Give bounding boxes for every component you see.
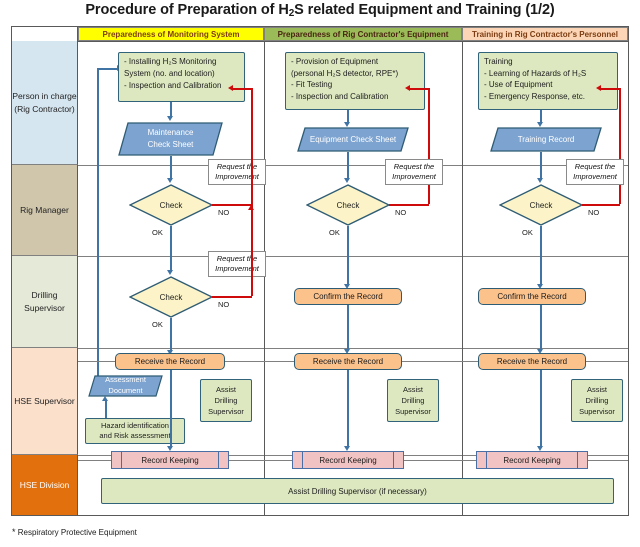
col1-red-arrowhead-to-task <box>228 85 233 91</box>
col1-record-keeping: Record Keeping <box>111 451 229 469</box>
col2-assist-line2: Drilling <box>395 395 431 406</box>
col1-callout-request-improvement-1: Request the Improvement <box>208 159 266 185</box>
col2-confirm-the-record: Confirm the Record <box>294 288 402 305</box>
col1-receive-the-record: Receive the Record <box>115 353 225 370</box>
col3-callout-line1: Request the <box>575 162 615 172</box>
row-label-hse-division-text: HSE Division <box>20 479 70 491</box>
col1-assist-line2: Drilling <box>208 395 244 406</box>
col1-red-arrowhead-mid <box>248 205 254 210</box>
flowchart-diagram: Procedure of Preparation of H2S related … <box>0 0 640 547</box>
col3-record-keeping-label: Record Keeping <box>487 452 577 468</box>
row-label-rig-manager: Rig Manager <box>12 165 78 256</box>
col1-feedback-connector-head <box>97 68 118 70</box>
column-header-contractor-equipment: Preparedness of Rig Contractor's Equipme… <box>264 27 462 41</box>
col2-assist-line1: Assist <box>395 384 431 395</box>
col3-check-decision-rig-manager: Check <box>499 184 583 226</box>
col1-record-keeping-label: Record Keeping <box>122 452 218 468</box>
col3-assist-line2: Drilling <box>579 395 615 406</box>
col3-task-line-2: - Learning of Hazards of H₂S <box>484 68 586 80</box>
col3-callout-line2: Improvement <box>573 172 617 182</box>
col1-arrow-hazard-to-assessment <box>102 396 108 401</box>
row-label-person-line1: Person in charge <box>12 90 76 102</box>
col2-assist-line3: Supervisor <box>395 406 431 417</box>
col2-task-box: - Provision of Equipment (personal H₂S d… <box>285 52 425 110</box>
col1-ok-label-2: OK <box>152 320 163 329</box>
col2-assist-drilling-supervisor-box: Assist Drilling Supervisor <box>387 379 439 422</box>
column-header-contractor-personnel: Training in Rig Contractor's Personnel <box>462 27 628 41</box>
col2-red-feedback-trunk <box>428 88 430 204</box>
col3-red-arrowhead-to-task <box>596 85 601 91</box>
col3-assist-line1: Assist <box>579 384 615 395</box>
col1-doc-line2: Check Sheet <box>148 139 194 151</box>
col2-red-arrowhead-to-task <box>405 85 410 91</box>
col2-ok-label: OK <box>329 228 340 237</box>
col3-receive-the-record: Receive the Record <box>478 353 586 370</box>
col1-check-decision-rig-manager: Check <box>129 184 213 226</box>
col2-task-line-4: - Inspection and Calibration <box>291 91 398 103</box>
col3-task-line-4: - Emergency Response, etc. <box>484 91 586 103</box>
col1-assessment-doc-line2: Document <box>108 386 142 397</box>
col3-doc-label: Training Record <box>518 134 575 146</box>
col1-red-feedback-trunk <box>251 88 253 296</box>
col3-task-line-3: - Use of Equipment <box>484 79 586 91</box>
col3-ok-label: OK <box>522 228 533 237</box>
page-title: Procedure of Preparation of H2S related … <box>0 2 640 18</box>
col1-task-line-2: System (no. and location) <box>124 68 221 80</box>
col1-arrow-task-to-doc <box>167 116 173 121</box>
col2-callout-line2: Improvement <box>392 172 436 182</box>
col1-arrow-doc-to-check1 <box>167 178 173 183</box>
col2-task-line-1: - Provision of Equipment <box>291 56 398 68</box>
col2-callout-request-improvement: Request the Improvement <box>385 159 443 185</box>
row-label-drilling-supervisor: Drilling Supervisor <box>12 256 78 348</box>
row-label-drilling-supervisor-text: Drilling Supervisor <box>12 289 77 314</box>
col3-record-keeping: Record Keeping <box>476 451 588 469</box>
col1-assist-line1: Assist <box>208 384 244 395</box>
col3-arrow-doc-to-check <box>537 178 543 183</box>
col3-assist-line3: Supervisor <box>579 406 615 417</box>
col1-feedback-connector <box>97 68 99 384</box>
col2-no-label: NO <box>395 208 406 217</box>
col1-task-box: - Installing H₂S Monitoring System (no. … <box>118 52 245 102</box>
row-label-hse-supervisor-text: HSE Supervisor <box>14 395 74 407</box>
col2-check-decision-rig-manager: Check <box>306 184 390 226</box>
col1-assist-line3: Supervisor <box>208 406 244 417</box>
col1-task-line-1: - Installing H₂S Monitoring <box>124 56 221 68</box>
col3-confirm-the-record: Confirm the Record <box>478 288 586 305</box>
col2-record-keeping: Record Keeping <box>292 451 404 469</box>
footnote-text: Respiratory Protective Equipment <box>16 528 137 537</box>
page-title-subscript: 2 <box>289 8 294 19</box>
col1-maintenance-check-sheet: Maintenance Check Sheet <box>118 122 223 156</box>
col1-no-label-1: NO <box>218 208 229 217</box>
col2-callout-line1: Request the <box>394 162 434 172</box>
col1-assessment-doc-line1: Assessment <box>105 375 146 386</box>
col2-equipment-check-sheet: Equipment Check Sheet <box>297 127 409 152</box>
col2-record-keeping-label: Record Keeping <box>303 452 393 468</box>
page-title-pre: Procedure of Preparation of H <box>85 2 288 18</box>
col3-training-record: Training Record <box>490 127 602 152</box>
row-label-hse-division: HSE Division <box>12 455 78 515</box>
footnote: * Respiratory Protective Equipment <box>12 527 137 537</box>
col2-task-line-3: - Fit Testing <box>291 79 398 91</box>
col1-ok-label-1: OK <box>152 228 163 237</box>
col1-check-decision-rig-manager-label: Check <box>129 184 213 226</box>
row-label-person-line2: (Rig Contractor) <box>12 103 76 115</box>
col3-red-feedback-trunk <box>619 88 621 204</box>
column-header-monitoring-system: Preparedness of Monitoring System <box>78 27 264 41</box>
col3-callout-request-improvement: Request the Improvement <box>566 159 624 185</box>
col1-doc-line1: Maintenance <box>148 127 194 139</box>
row-label-rig-manager-text: Rig Manager <box>20 204 69 216</box>
col2-check-decision-label: Check <box>306 184 390 226</box>
row-label-hse-supervisor: HSE Supervisor <box>12 348 78 455</box>
col1-no-label-2: NO <box>218 300 229 309</box>
col1-task-line-3: - Inspection and Calibration <box>124 80 221 92</box>
col1-arrow-check1-to-check2 <box>167 270 173 275</box>
col1-hazard-line2: and Risk assessment <box>99 431 170 442</box>
col1-hazard-line1: Hazard identification <box>99 421 170 432</box>
col1-assist-drilling-supervisor-box: Assist Drilling Supervisor <box>200 379 252 422</box>
col2-arrow-doc-to-check <box>344 178 350 183</box>
header-corner-cell <box>12 27 78 41</box>
col3-task-box: Training - Learning of Hazards of H₂S - … <box>478 52 618 110</box>
col3-task-line-1: Training <box>484 56 586 68</box>
col1-check-decision-drilling-label: Check <box>129 276 213 318</box>
col1-callout-request-improvement-2: Request the Improvement <box>208 251 266 277</box>
col3-assist-drilling-supervisor-box: Assist Drilling Supervisor <box>571 379 623 422</box>
col2-doc-label: Equipment Check Sheet <box>310 134 396 146</box>
col2-task-line-2: (personal H₂S detector, RPE*) <box>291 68 398 80</box>
col1-assessment-document: Assessment Document <box>88 375 163 397</box>
col2-receive-the-record: Receive the Record <box>294 353 402 370</box>
hse-division-assist-band: Assist Drilling Supervisor (if necessary… <box>101 478 614 504</box>
col3-check-decision-label: Check <box>499 184 583 226</box>
col3-no-label: NO <box>588 208 599 217</box>
page-title-post: S related Equipment and Training (1/2) <box>294 2 554 18</box>
col1-check-decision-drilling-supervisor: Check <box>129 276 213 318</box>
row-label-person-in-charge: Person in charge (Rig Contractor) <box>12 41 78 165</box>
